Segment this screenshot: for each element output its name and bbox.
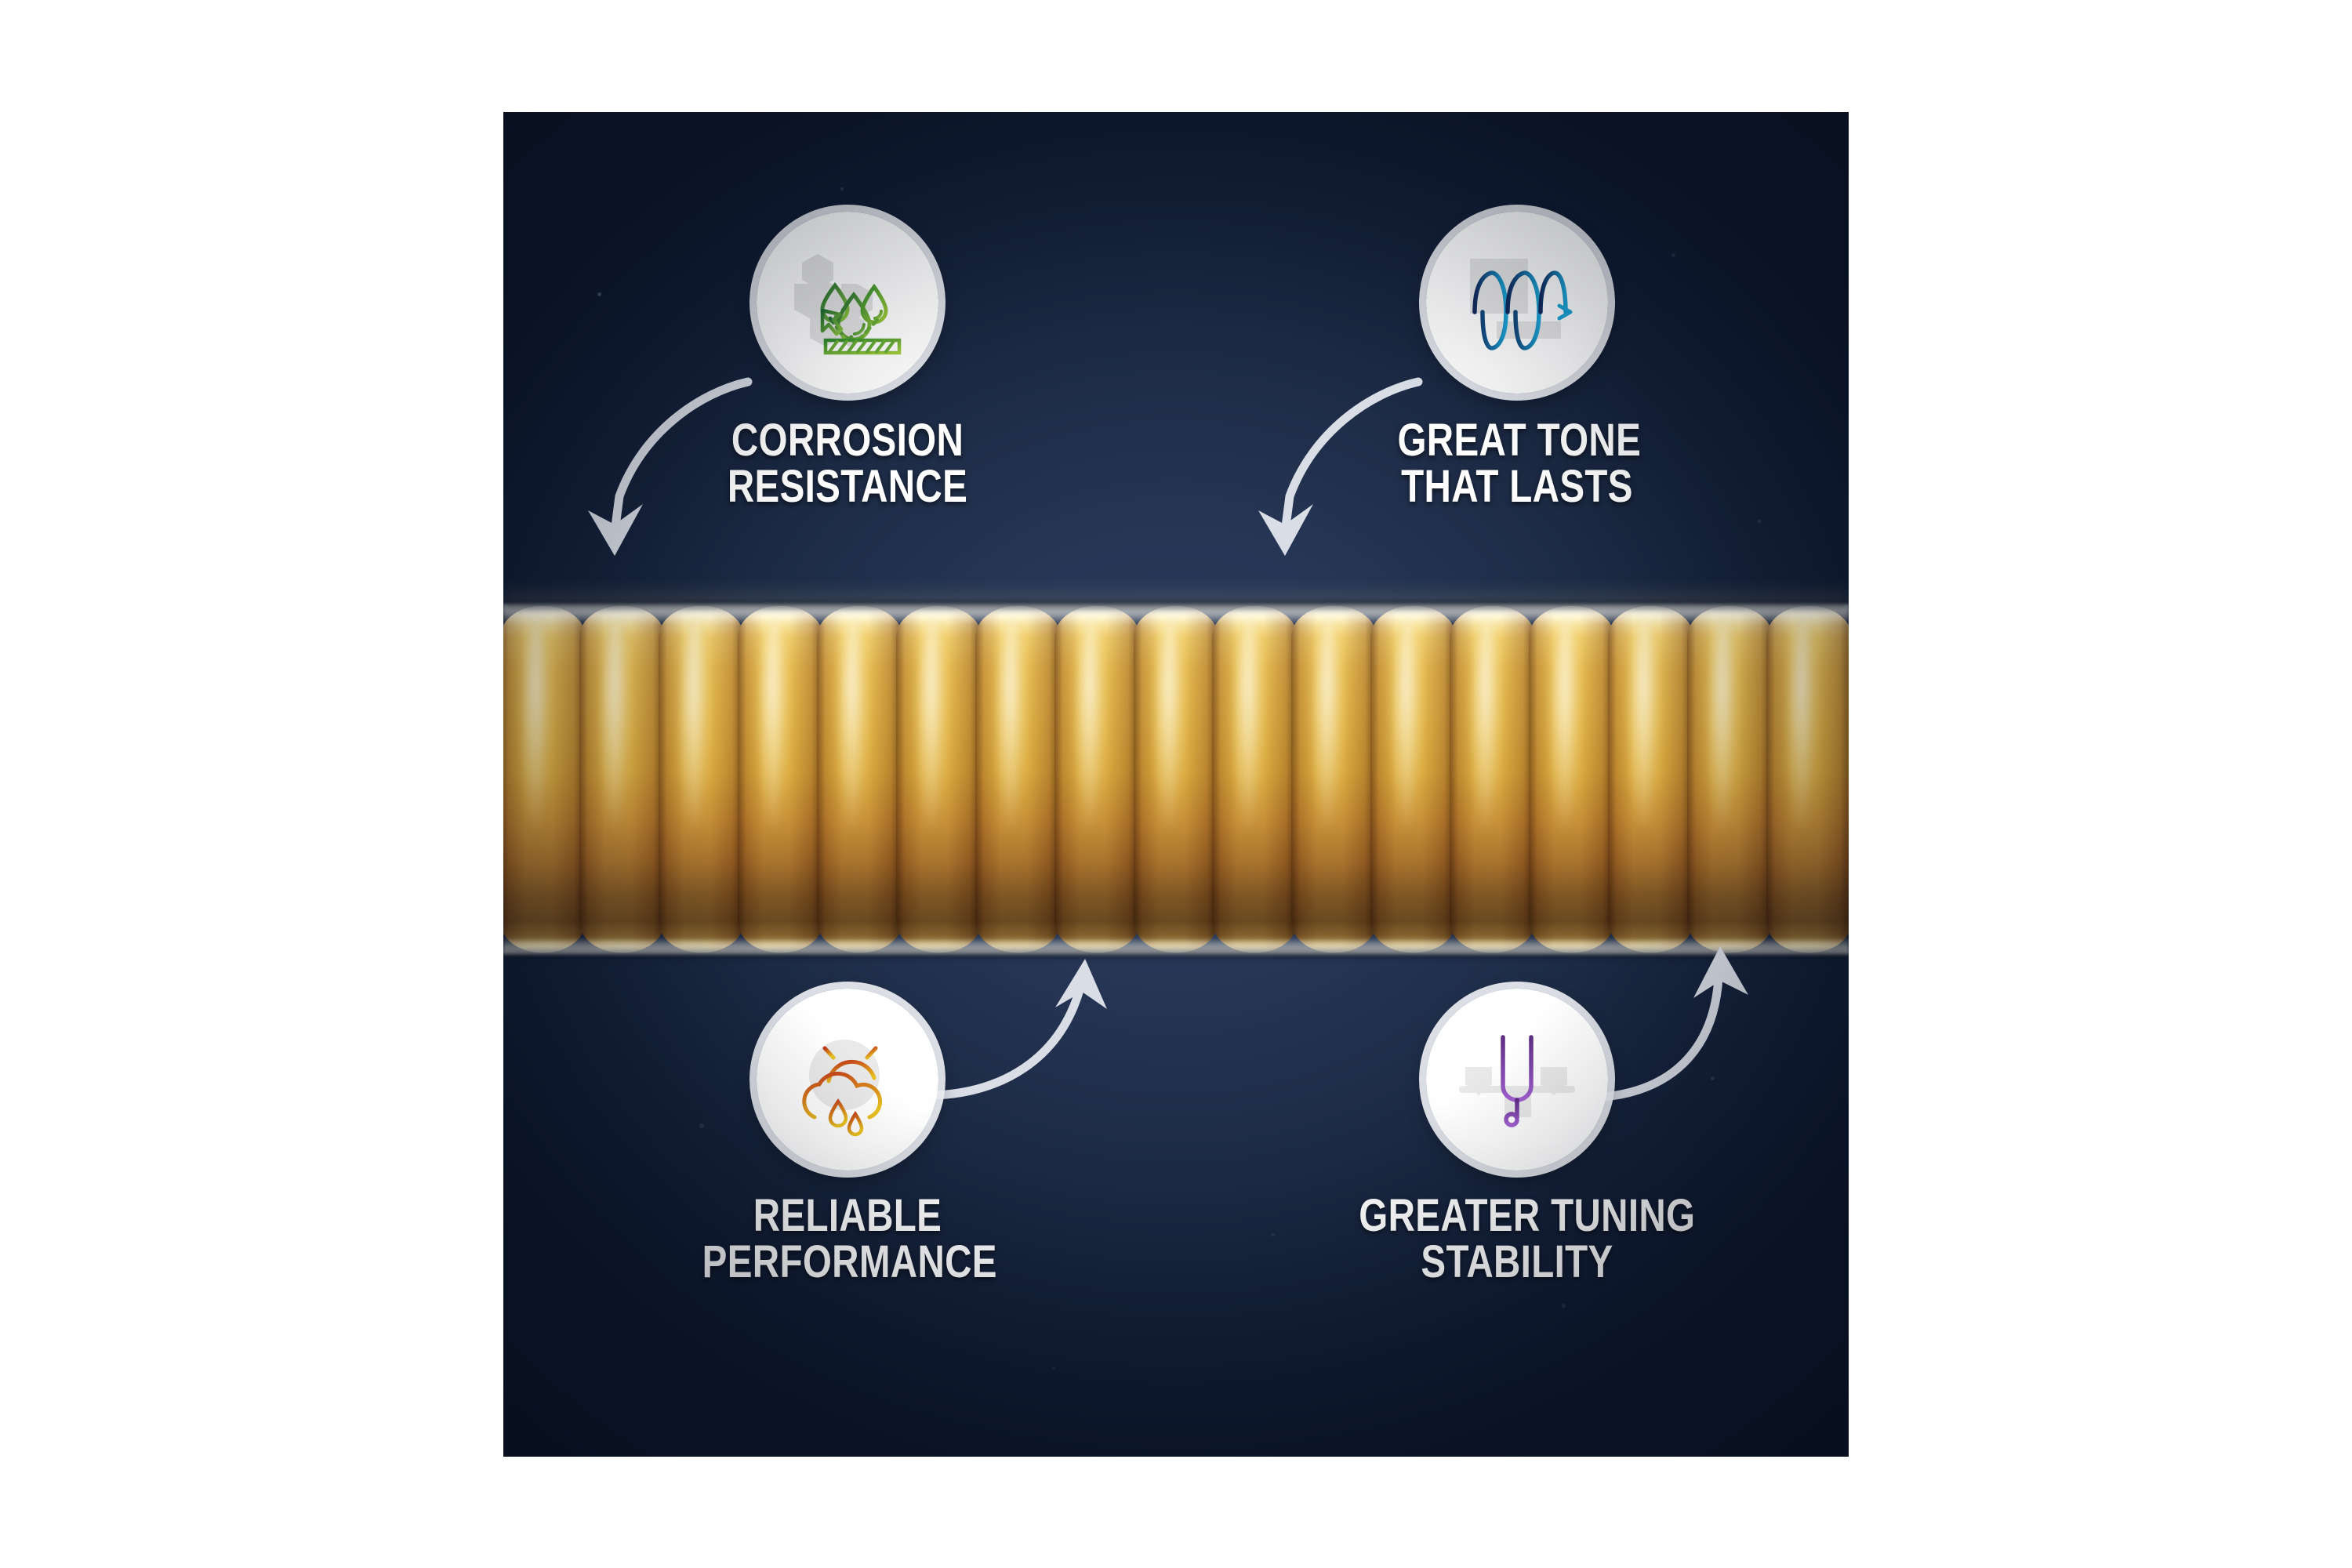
arrow-greater-tuning-stability (1593, 929, 1789, 1117)
feature-reliable-performance[interactable]: RELIABLE PERFORMANCE (757, 989, 938, 1171)
feature-label-line1: GREATER TUNING (1359, 1192, 1675, 1239)
feature-label: CORROSION RESISTANCE (721, 417, 973, 510)
speckle (699, 1123, 704, 1128)
feature-label-line2: RESISTANCE (721, 463, 973, 510)
string-coil (1054, 606, 1140, 953)
speckle (1711, 1076, 1715, 1080)
feature-label-line2: PERFORMANCE (702, 1239, 993, 1285)
speckle (597, 292, 601, 296)
string-coil (1766, 606, 1849, 953)
string-coil (817, 606, 902, 953)
string-coil (503, 606, 586, 953)
string-coil (738, 606, 823, 953)
feature-icon-circle[interactable] (1426, 989, 1608, 1171)
feature-label-line2: STABILITY (1359, 1239, 1675, 1285)
string-coil (1370, 606, 1456, 953)
string-coils (503, 606, 1849, 953)
gold-wound-guitar-string (503, 606, 1849, 953)
string-coil (1529, 606, 1614, 953)
speckle (1562, 1304, 1566, 1308)
feature-label: RELIABLE PERFORMANCE (702, 1192, 993, 1285)
feature-label-line2: THAT LASTS (1397, 463, 1636, 510)
string-coil (1291, 606, 1377, 953)
feature-label-line1: RELIABLE (702, 1192, 993, 1239)
infographic-root: CORROSION RESISTANCE (0, 0, 2352, 1568)
feature-label: GREATER TUNING STABILITY (1359, 1192, 1675, 1285)
string-coil (1450, 606, 1535, 953)
speckle (1052, 1367, 1055, 1370)
string-coil (659, 606, 744, 953)
feature-icon-circle[interactable] (757, 212, 938, 394)
string-coil (1608, 606, 1693, 953)
feature-label-line1: CORROSION (721, 417, 973, 463)
speckle (840, 187, 844, 191)
string-top-edge-shadow (503, 601, 1849, 609)
string-coil (1134, 606, 1219, 953)
string-coil (1687, 606, 1773, 953)
feature-greater-tuning-stability[interactable]: GREATER TUNING STABILITY (1426, 989, 1608, 1171)
feature-great-tone[interactable]: GREAT TONE THAT LASTS (1426, 212, 1608, 394)
feature-label-line1: GREAT TONE (1397, 417, 1636, 463)
water-droplets-repel-icon (782, 237, 913, 368)
string-coil (896, 606, 982, 953)
speckle (1272, 1233, 1275, 1236)
string-coil (975, 606, 1061, 953)
speckle (1671, 253, 1675, 257)
feature-label: GREAT TONE THAT LASTS (1397, 417, 1636, 510)
speckle (1758, 520, 1761, 523)
feature-icon-circle[interactable] (757, 989, 938, 1171)
product-feature-panel: CORROSION RESISTANCE (503, 112, 1849, 1457)
string-coil (579, 606, 665, 953)
feature-icon-circle[interactable] (1426, 212, 1608, 394)
string-bottom-edge-shadow (503, 949, 1849, 957)
sound-wave-icon (1451, 237, 1583, 368)
feature-corrosion-resistance[interactable]: CORROSION RESISTANCE (757, 212, 938, 394)
sun-cloud-rain-weather-icon (782, 1014, 913, 1145)
tuning-fork-icon (1451, 1014, 1583, 1145)
string-coil (1212, 606, 1298, 953)
arrow-reliable-performance (925, 942, 1121, 1114)
